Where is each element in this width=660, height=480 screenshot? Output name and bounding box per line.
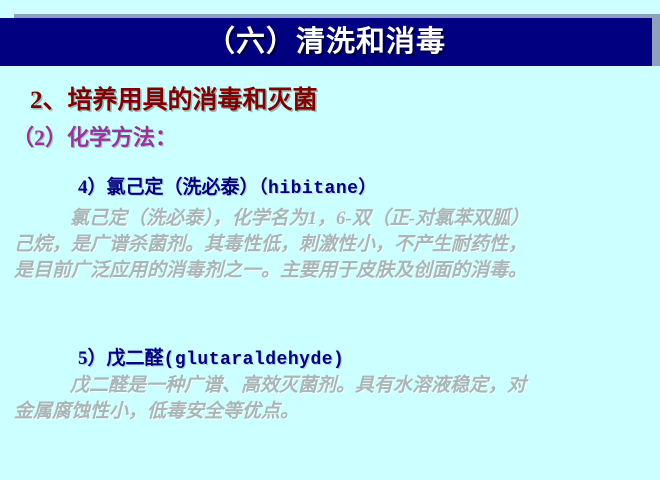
paragraph-hibitane: 氯己定（洗必泰），化学名为1，6-双（正-对氯苯双胍） 己烷，是广谱杀菌剂。其毒… <box>14 206 654 284</box>
slide-title-bar: （六）清洗和消毒 <box>0 14 660 70</box>
paragraph-hibitane-line-3: 是目前广泛应用的消毒剂之一。主要用于皮肤及创面的消毒。 <box>14 258 654 284</box>
paragraph-hibitane-line-2: 己烷，是广谱杀菌剂。其毒性低，刺激性小，不产生耐药性， <box>14 232 654 258</box>
paragraph-glutaraldehyde-line-1: 戊二醛是一种广谱、高效灭菌剂。具有水溶液稳定，对 <box>14 373 654 399</box>
sub-heading-hibitane-term: （hibitane） <box>259 179 377 199</box>
heading-level-1: 2、培养用具的消毒和灭菌 <box>30 80 318 116</box>
slide-title: （六）清洗和消毒 <box>206 28 446 57</box>
sub-heading-hibitane-label: 4）氯己定（洗必泰） <box>78 177 259 198</box>
heading-level-2: （2）化学方法： <box>12 120 177 152</box>
paragraph-glutaraldehyde: 戊二醛是一种广谱、高效灭菌剂。具有水溶液稳定，对 金属腐蚀性小，低毒安全等优点。 <box>14 373 654 425</box>
title-bar-fill: （六）清洗和消毒 <box>0 18 652 66</box>
sub-heading-hibitane: 4）氯己定（洗必泰）（hibitane） <box>78 172 377 199</box>
paragraph-hibitane-line-1: 氯己定（洗必泰），化学名为1，6-双（正-对氯苯双胍） <box>14 206 654 232</box>
sub-heading-glutaraldehyde: 5）戊二醛(glutaraldehyde) <box>78 343 344 370</box>
sub-heading-glutaraldehyde-term: (glutaraldehyde) <box>164 350 345 370</box>
slide-canvas: （六）清洗和消毒 2、培养用具的消毒和灭菌 （2）化学方法： 4）氯己定（洗必泰… <box>0 0 660 480</box>
paragraph-glutaraldehyde-line-2: 金属腐蚀性小，低毒安全等优点。 <box>14 399 654 425</box>
sub-heading-glutaraldehyde-label: 5）戊二醛 <box>78 348 164 369</box>
